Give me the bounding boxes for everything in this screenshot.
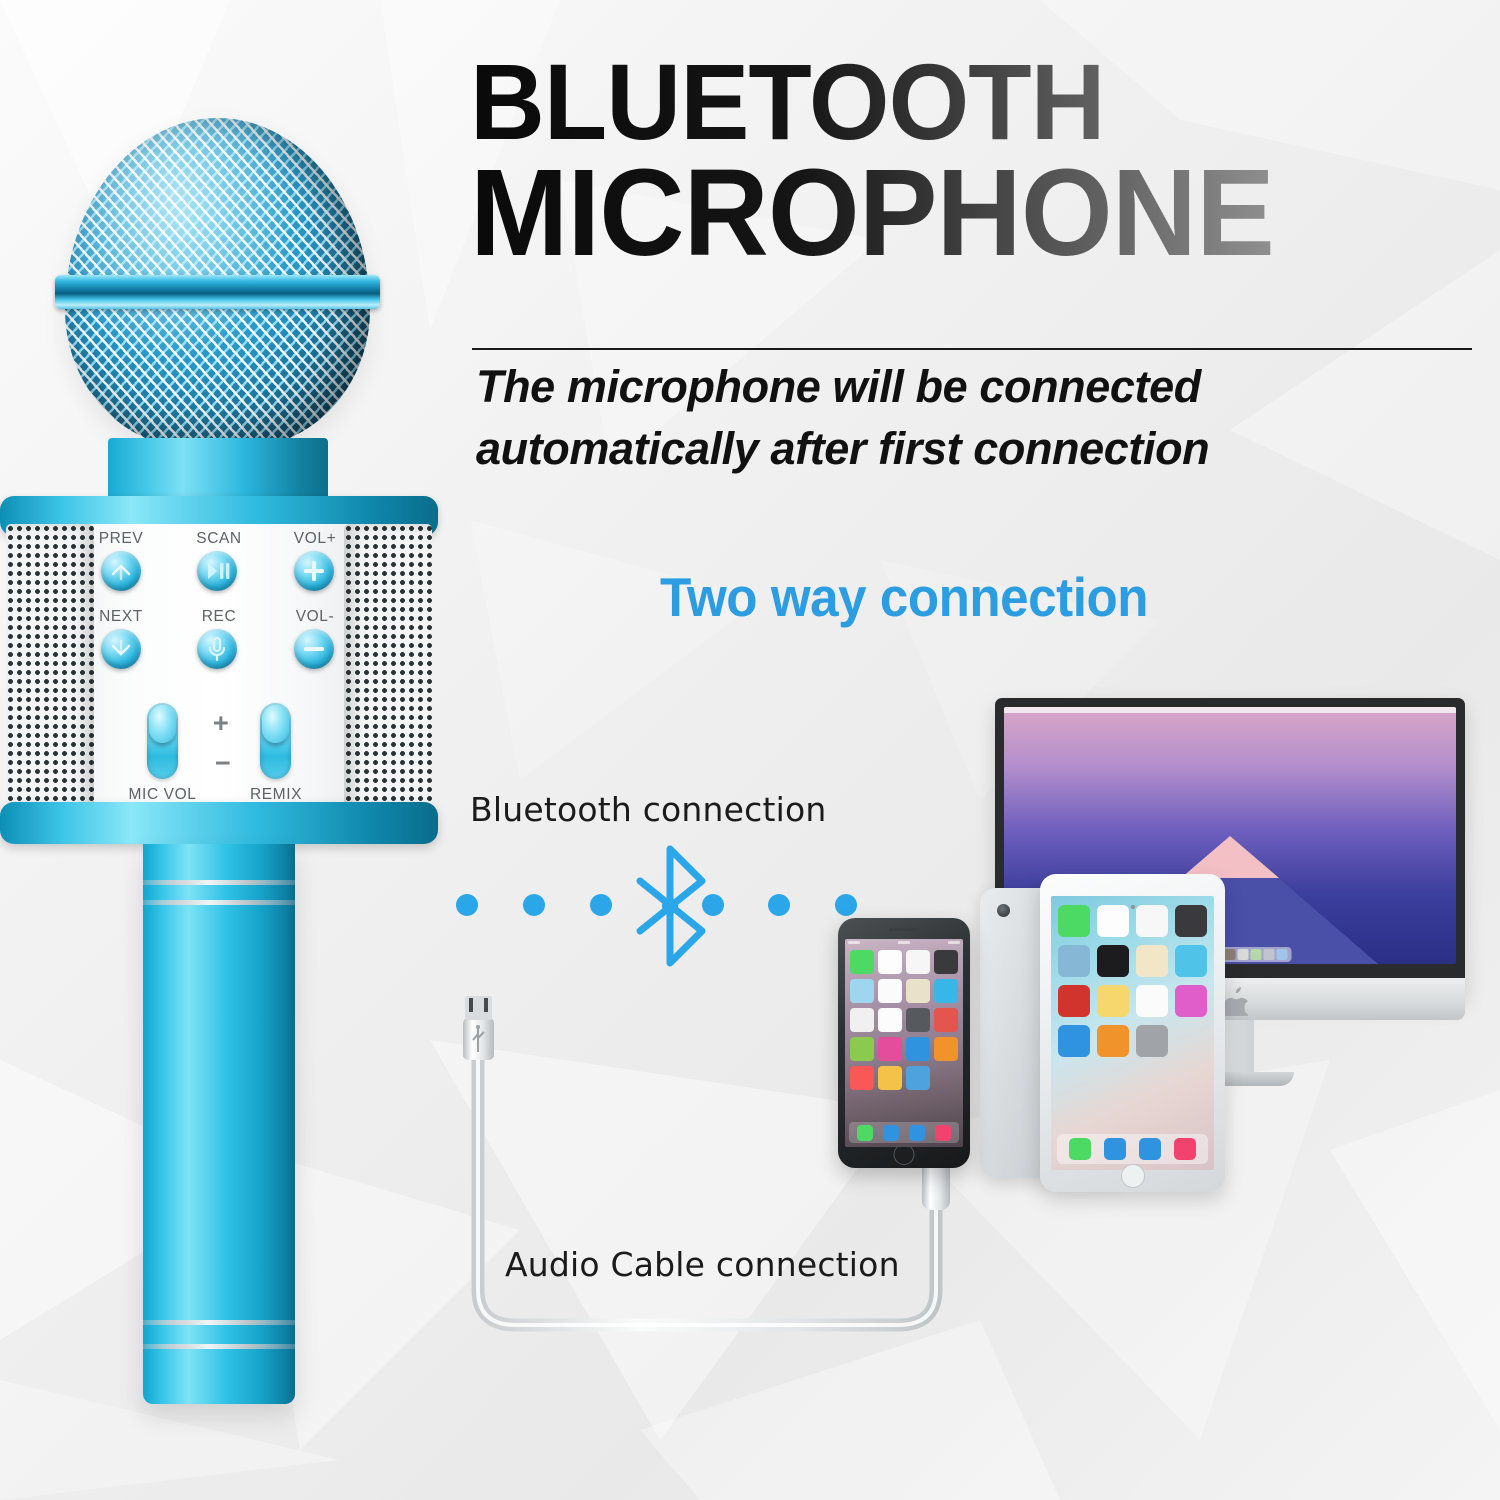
play-pause-icon [197, 551, 237, 591]
app-icon-appstore [1058, 1025, 1090, 1057]
ipad-app-grid [1058, 905, 1207, 1057]
volume-down-button[interactable] [294, 629, 334, 669]
headline-divider [472, 348, 1472, 350]
control-label-prev: PREV [91, 530, 151, 548]
microphone-handle [143, 844, 295, 1404]
microphone-head-band [55, 275, 380, 309]
app-icon-ibooks [1097, 1025, 1129, 1057]
app-icon-contactsred [1058, 985, 1090, 1017]
scan-button[interactable] [197, 551, 237, 591]
app-icon-mail [1139, 1138, 1161, 1160]
apple-logo-icon [1222, 986, 1248, 1020]
iphone-earpiece-icon [889, 928, 919, 931]
next-track-icon [101, 629, 141, 669]
slider-plus-mark: + [213, 710, 229, 737]
section-title-two-way-connection: Two way connection [660, 565, 1148, 629]
control-label-rec: REC [187, 608, 251, 626]
devices-group [830, 690, 1490, 1170]
bluetooth-connection-label: Bluetooth connection [470, 790, 827, 829]
plus-icon [294, 551, 334, 591]
iphone-phone [838, 918, 970, 1168]
microphone-control-panel: PREV SCAN VOL+ NEXT REC VOL- [94, 524, 344, 816]
control-label-next: NEXT [91, 608, 151, 626]
app-icon-music [1174, 1138, 1196, 1160]
app-icon-itunes [1175, 985, 1207, 1017]
app-icon-calendar [1097, 985, 1129, 1017]
bluetooth-dot [456, 894, 478, 916]
volume-up-button[interactable] [294, 551, 334, 591]
slider-minus-mark: − [215, 750, 231, 777]
app-icon-safari [1104, 1138, 1126, 1160]
app-icon-camera [1175, 905, 1207, 937]
app-icon-imovie [1175, 945, 1207, 977]
headline-line-2: MICROPHONE [470, 157, 1440, 270]
headline-block: BLUETOOTH MICROPHONE [470, 52, 1480, 271]
iphone-dock [849, 1122, 959, 1143]
ipad-dock [1057, 1134, 1208, 1164]
ipad-tablet [1040, 874, 1225, 1192]
iphone-status-bar [848, 941, 960, 946]
app-icon-reminders [1136, 985, 1168, 1017]
product-banner: BLUETOOTH MICROPHONE The microphone will… [0, 0, 1500, 1500]
handle-ring [143, 880, 295, 885]
control-label-vol-down: VOL- [284, 608, 346, 626]
app-icon-clock [1097, 945, 1129, 977]
minus-icon [294, 629, 334, 669]
mic-volume-slider[interactable] [147, 703, 178, 779]
control-label-vol-up: VOL+ [284, 530, 346, 548]
imac-menubar [1004, 707, 1456, 713]
app-icon-settings [1136, 1025, 1168, 1057]
micro-usb-connector [463, 996, 494, 1060]
app-icon-facetime [1058, 905, 1090, 937]
remix-slider-knob[interactable] [262, 705, 289, 743]
wallpaper-mountain-snowcap [1181, 836, 1279, 878]
speaker-grille-right [344, 524, 432, 816]
iphone-home-button[interactable] [894, 1144, 915, 1165]
handle-ring [143, 900, 295, 905]
control-label-scan: SCAN [187, 530, 251, 548]
bluetooth-connection-graphic [448, 855, 848, 955]
app-icon-photos [1136, 905, 1168, 937]
prev-track-icon [101, 551, 141, 591]
bluetooth-dot [523, 894, 545, 916]
record-mic-icon [197, 629, 237, 669]
app-icon-messages [1069, 1138, 1091, 1160]
ipad-screen [1051, 896, 1214, 1170]
app-icon-notes2 [1136, 945, 1168, 977]
ipad-home-button[interactable] [1121, 1164, 1145, 1188]
bluetooth-microphone-product: PREV SCAN VOL+ NEXT REC VOL- [0, 100, 450, 1420]
iphone-screen [845, 939, 963, 1147]
mic-volume-slider-knob[interactable] [149, 705, 176, 743]
app-icon-contacts [1058, 945, 1090, 977]
next-track-button[interactable] [101, 629, 141, 669]
bluetooth-dot [590, 894, 612, 916]
bluetooth-dot [702, 894, 724, 916]
microphone-collar-bottom [0, 802, 438, 844]
speaker-grille-left [6, 524, 94, 816]
handle-ring [143, 1320, 295, 1325]
iphone-app-grid [850, 950, 958, 1090]
ipad-camera-icon [997, 904, 1010, 917]
headline-line-1: BLUETOOTH [470, 52, 1440, 151]
prev-track-button[interactable] [101, 551, 141, 591]
handle-ring [143, 1344, 295, 1349]
remix-slider[interactable] [260, 703, 291, 779]
app-icon-health [1097, 905, 1129, 937]
record-button[interactable] [197, 629, 237, 669]
subheadline: The microphone will be connected automat… [476, 356, 1486, 480]
bluetooth-dot [768, 894, 790, 916]
